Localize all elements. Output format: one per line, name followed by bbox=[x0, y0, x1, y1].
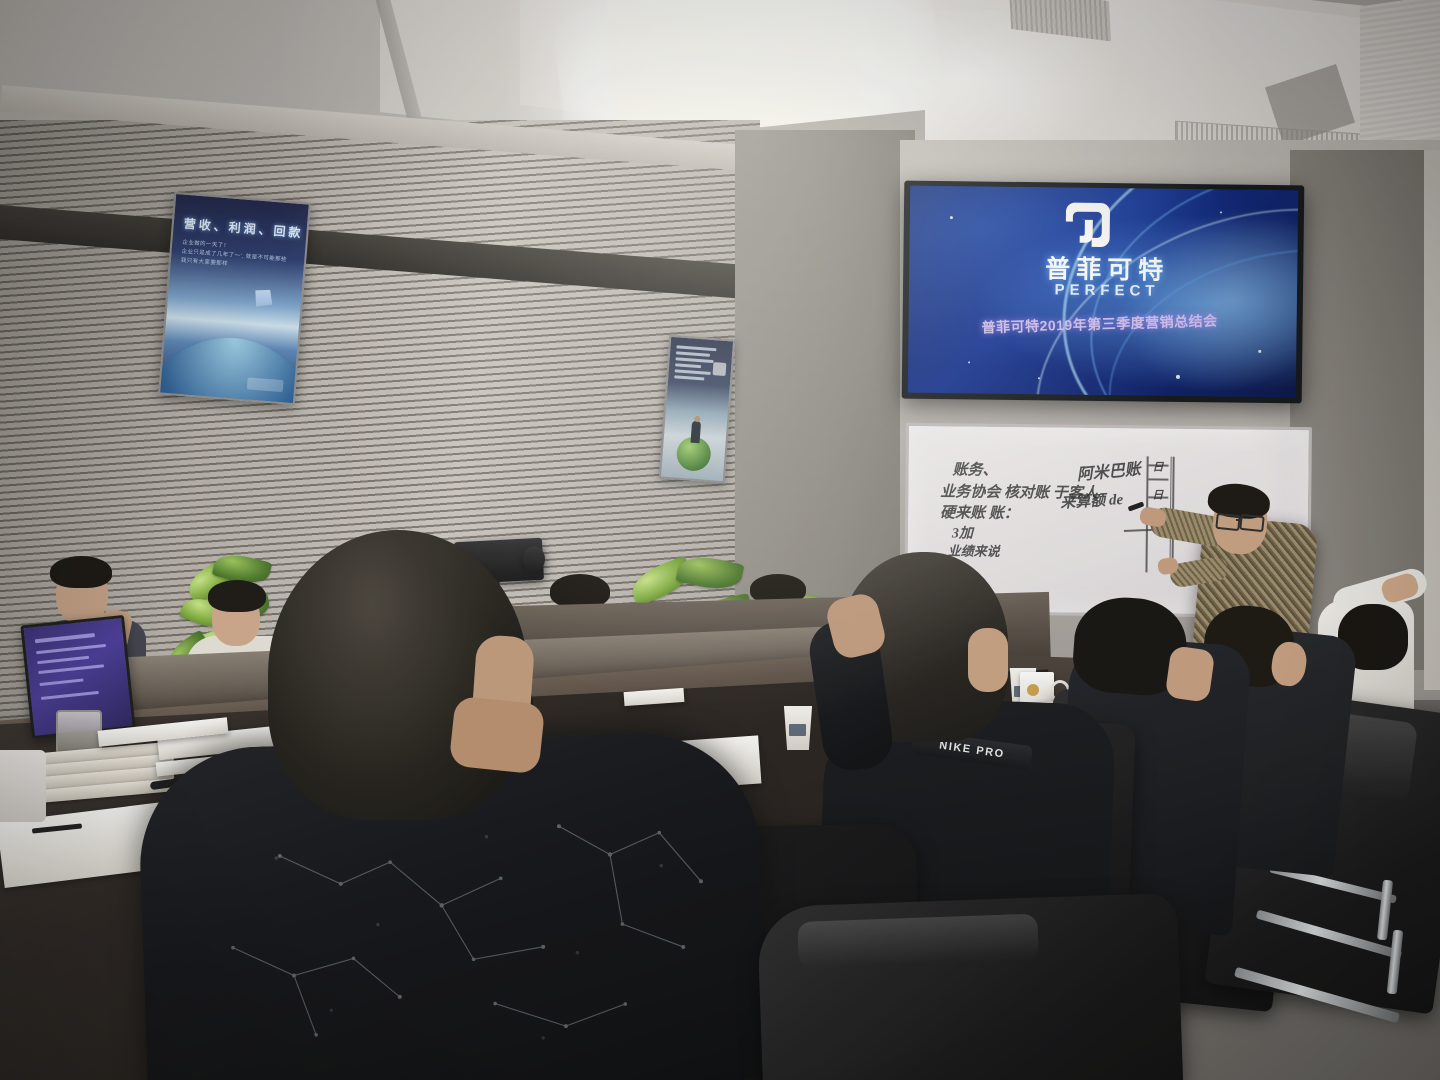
tissue-box bbox=[0, 750, 46, 822]
paper-cup bbox=[782, 706, 814, 750]
poster-revenue: 营收、利润、回款 企业做的一天了！ 企业只是成了几年了一', 就是不可能那些 我… bbox=[158, 192, 311, 405]
wall-mounted-tv[interactable]: 普菲可特 PERFECT 普菲可特2019年第三季度营销总结会 bbox=[902, 181, 1305, 404]
attendee-hair bbox=[208, 580, 266, 612]
whiteboard-diagram-line bbox=[1148, 478, 1168, 480]
meeting-room-photo: 营收、利润、回款 企业做的一天了！ 企业只是成了几年了一', 就是不可能那些 我… bbox=[0, 0, 1440, 1080]
whiteboard-note-right: 来算额 de bbox=[1060, 488, 1124, 513]
whiteboard-note-right: 阿米巴账 bbox=[1076, 455, 1142, 485]
eyeglasses-icon bbox=[1215, 513, 1241, 531]
perfect-logo-icon bbox=[1062, 201, 1115, 248]
wall-right-edge bbox=[1424, 150, 1440, 690]
eyeglasses-bridge bbox=[1236, 519, 1242, 521]
whiteboard-diagram-label: 日 bbox=[1152, 458, 1163, 474]
attendee-hair bbox=[50, 556, 112, 588]
whiteboard-note: 账务、 bbox=[952, 458, 997, 479]
poster-growth-text-lines bbox=[674, 345, 717, 384]
poster-growth-badge-icon bbox=[713, 362, 727, 376]
star-icon bbox=[1038, 377, 1040, 379]
poster-revenue-title: 营收、利润、回款 bbox=[183, 215, 304, 242]
poster-earth-art bbox=[158, 330, 311, 405]
star-icon bbox=[950, 216, 953, 219]
poster-kite-icon bbox=[248, 283, 279, 314]
star-icon bbox=[968, 361, 970, 363]
eyeglasses-icon bbox=[1239, 514, 1265, 532]
whiteboard-note: 硬来账 账： bbox=[940, 501, 1019, 523]
star-icon bbox=[1176, 375, 1180, 379]
attendee-ear bbox=[968, 628, 1008, 692]
camera-lens-icon bbox=[523, 546, 545, 572]
shirt-brand-text: NIKE PRO bbox=[938, 739, 1005, 760]
mug-decoration-icon bbox=[1027, 684, 1039, 696]
attendee-hand bbox=[1165, 645, 1216, 703]
poster-revenue-body: 企业做的一天了！ 企业只是成了几年了一', 就是不可能那些 我只有大家要那样 bbox=[180, 239, 287, 274]
attendee-neck bbox=[449, 695, 546, 774]
poster-growth bbox=[659, 335, 735, 483]
star-icon bbox=[1220, 211, 1222, 213]
office-chair[interactable] bbox=[757, 893, 1183, 1080]
tv-brand-en: PERFECT bbox=[997, 281, 1217, 301]
tv-screen[interactable]: 普菲可特 PERFECT 普菲可特2019年第三季度营销总结会 bbox=[908, 186, 1299, 398]
whiteboard-diagram-label: 日 bbox=[1152, 486, 1163, 502]
star-icon bbox=[1258, 350, 1261, 353]
poster-figure bbox=[691, 421, 702, 444]
